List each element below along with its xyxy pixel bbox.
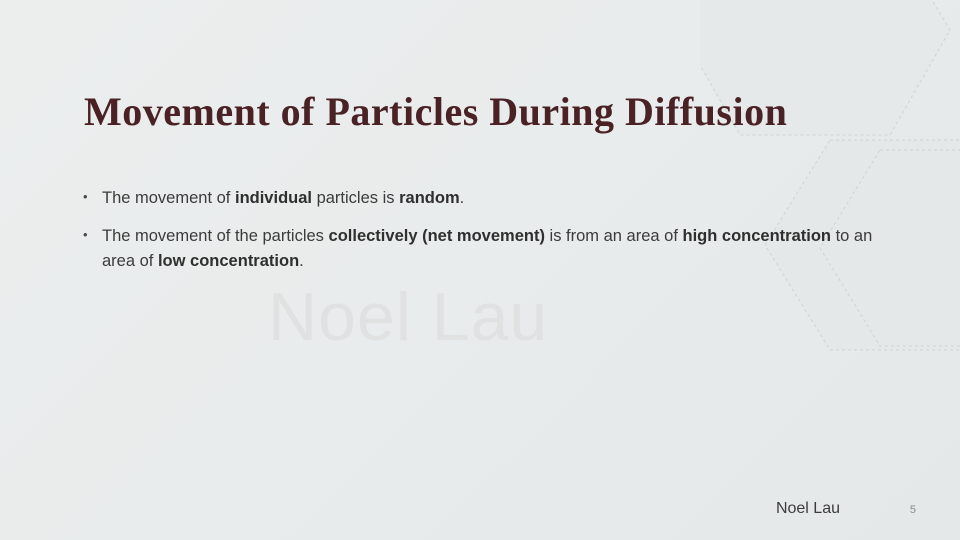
slide-number: 5 [910, 504, 916, 516]
list-item: • The movement of individual particles i… [80, 186, 880, 212]
bullet-text: The movement of individual particles is … [102, 186, 880, 212]
bullet-list: • The movement of individual particles i… [80, 186, 880, 287]
bullet-text: The movement of the particles collective… [102, 224, 880, 275]
bullet-marker-icon: • [80, 186, 102, 208]
bullet-marker-icon: • [80, 224, 102, 246]
list-item: • The movement of the particles collecti… [80, 224, 880, 275]
page-title: Movement of Particles During Diffusion [84, 88, 884, 135]
slide: Movement of Particles During Diffusion N… [0, 0, 960, 540]
watermark: Noel Lau [268, 278, 548, 356]
footer-author: Noel Lau [776, 500, 840, 518]
